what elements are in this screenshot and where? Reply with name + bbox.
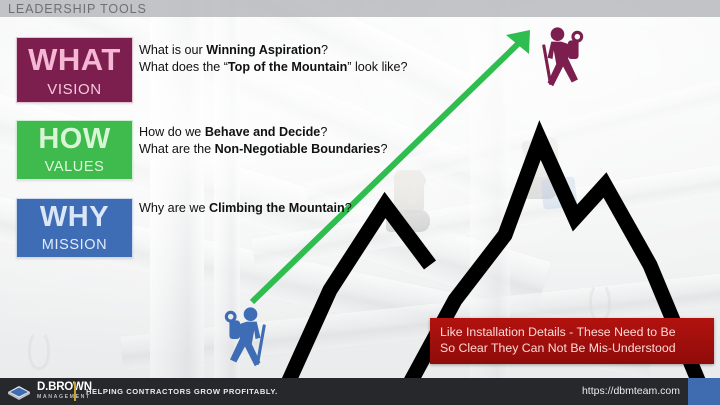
pillar-box-how[interactable]: HOW VALUES [16, 120, 133, 180]
question-emphasis: Winning Aspiration [206, 43, 321, 57]
question-text: ? [321, 43, 328, 57]
question-line: How do we Behave and Decide? [139, 124, 387, 141]
pillar-subtitle-how: VALUES [45, 160, 105, 175]
question-text: ? [345, 201, 352, 215]
question-line: What does the “Top of the Mountain” look… [139, 59, 408, 76]
footer-bar: D.BROWN MANAGEMENT HELPING CONTRACTORS G… [0, 378, 720, 405]
question-line: What is our Winning Aspiration? [139, 42, 408, 59]
brand-logo[interactable]: D.BROWN MANAGEMENT [6, 381, 92, 401]
pillar-box-what[interactable]: WHAT VISION [16, 37, 133, 103]
question-line: What are the Non-Negotiable Boundaries? [139, 141, 387, 158]
pillar-subtitle-what: VISION [47, 82, 101, 97]
question-text: How do we [139, 125, 205, 139]
question-text: What is our [139, 43, 206, 57]
footer-website[interactable]: https://dbmteam.com [582, 385, 680, 397]
dbrown-logo-icon [6, 381, 32, 401]
hiker-summit-icon [542, 27, 582, 86]
caption-line: Like Installation Details - These Need t… [440, 324, 706, 340]
question-block-what: What is our Winning Aspiration?What does… [139, 42, 408, 76]
question-block-why: Why are we Climbing the Mountain? [139, 200, 352, 217]
question-text: What does the “ [139, 60, 228, 74]
callout-caption: Like Installation Details - These Need t… [430, 318, 714, 364]
hiker-start-icon [226, 307, 266, 366]
pillar-title-why: WHY [40, 203, 109, 232]
question-text: ? [320, 125, 327, 139]
logo-primary-text: D.BROWN [37, 382, 92, 394]
question-text: What are the [139, 142, 215, 156]
footer-accent-block [688, 378, 720, 405]
question-line: Why are we Climbing the Mountain? [139, 200, 352, 217]
question-emphasis: Climbing the Mountain [209, 201, 345, 215]
footer-tagline: HELPING CONTRACTORS GROW PROFITABLY. [86, 387, 278, 396]
question-emphasis: Non-Negotiable Boundaries [215, 142, 381, 156]
question-emphasis: Behave and Decide [205, 125, 321, 139]
logo-secondary-text: MANAGEMENT [37, 395, 92, 400]
question-text: ” look like? [347, 60, 407, 74]
pillar-subtitle-why: MISSION [42, 238, 107, 253]
question-text: Why are we [139, 201, 209, 215]
question-text: ? [380, 142, 387, 156]
pillar-box-why[interactable]: WHY MISSION [16, 198, 133, 258]
logo-divider [74, 382, 76, 401]
slide-canvas: LEADERSHIP TOOLS WHAT VISION HOW VALUES … [0, 0, 720, 405]
pillar-title-how: HOW [38, 125, 110, 154]
question-emphasis: Top of the Mountain [228, 60, 347, 74]
page-title: LEADERSHIP TOOLS [8, 2, 147, 16]
caption-line: So Clear They Can Not Be Mis-Understood [440, 340, 706, 356]
question-block-how: How do we Behave and Decide?What are the… [139, 124, 387, 158]
pillar-title-what: WHAT [28, 44, 121, 75]
mountain-peak-right [398, 140, 700, 405]
